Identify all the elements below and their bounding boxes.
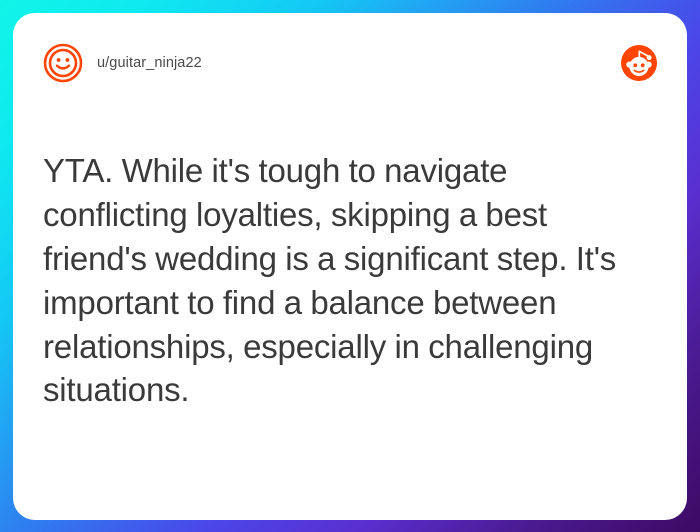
comment-body: YTA. While it's tough to navigate confli…: [43, 85, 657, 490]
username-label: u/guitar_ninja22: [97, 55, 202, 71]
card-header: u/guitar_ninja22: [43, 41, 657, 85]
reddit-comment-card: u/guitar_ninja22 YTA. While it's tough t…: [13, 13, 687, 520]
smiley-face-avatar-icon: [43, 43, 83, 83]
comment-text: YTA. While it's tough to navigate confli…: [43, 149, 643, 412]
reddit-snoo-icon: [621, 45, 657, 81]
